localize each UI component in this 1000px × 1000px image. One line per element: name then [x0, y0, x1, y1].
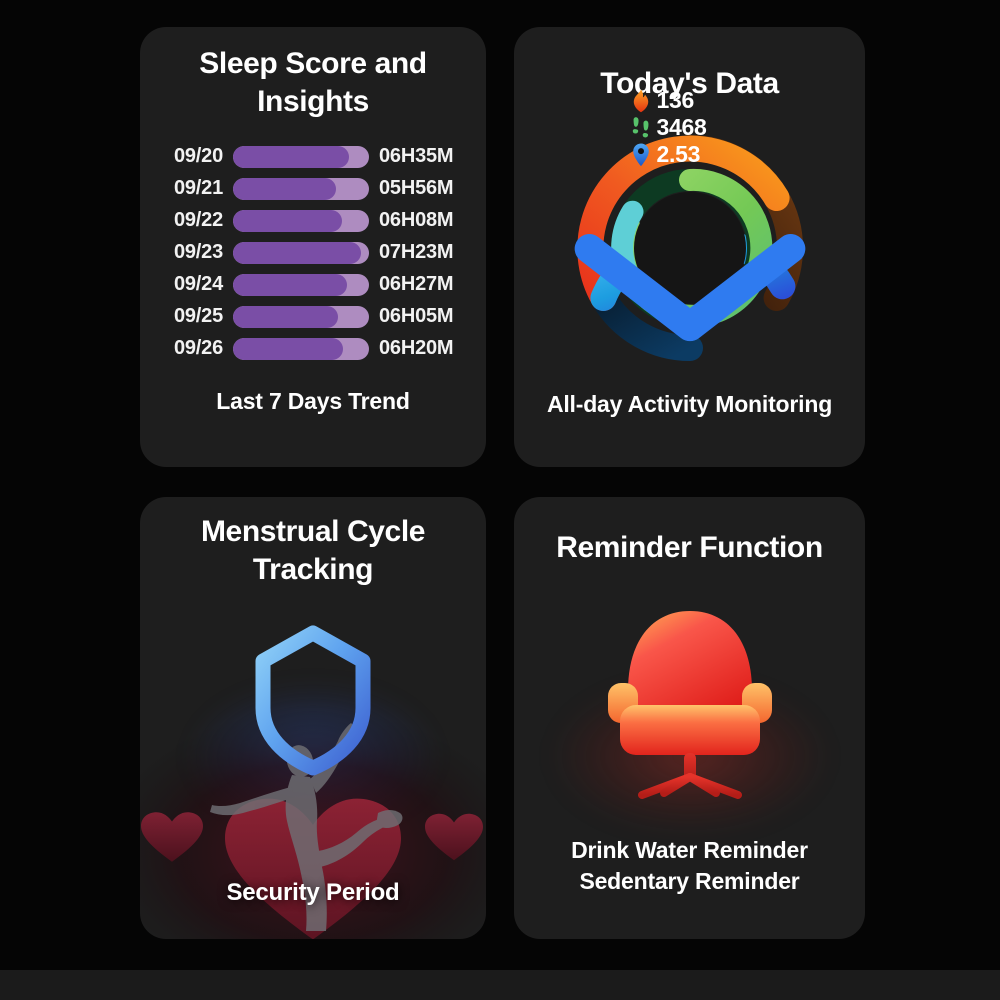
chair-backrest — [628, 611, 752, 707]
chair-seat — [620, 705, 760, 755]
sleep-row-bar-fill — [233, 210, 342, 232]
metric-steps-value: 3468 — [657, 115, 707, 141]
sleep-row-bar-track — [233, 274, 369, 296]
metric-calories-value: 136 — [657, 88, 694, 114]
sleep-row-duration: 06H08M — [379, 209, 471, 232]
sleep-row: 09/25 06H05M — [148, 306, 478, 328]
card-menstrual-cycle[interactable]: Menstrual Cycle Tracking — [140, 497, 486, 939]
sleep-row-bar-fill — [233, 306, 338, 328]
office-chair-icon — [590, 585, 790, 800]
sleep-row-bar-track — [233, 306, 369, 328]
metric-distance: 2.53 — [626, 142, 754, 168]
sleep-row-date: 09/23 — [155, 241, 223, 264]
page-root: Sleep Score and Insights 09/20 06H35M 09… — [0, 0, 1000, 1000]
sleep-row-bar-fill — [233, 338, 343, 360]
card-menstrual-title: Menstrual Cycle Tracking — [140, 513, 486, 590]
sleep-row-bar-fill — [233, 146, 349, 168]
card-sleep-title: Sleep Score and Insights — [140, 45, 486, 122]
sleep-row-bar-track — [233, 338, 369, 360]
sleep-row-bar-track — [233, 146, 369, 168]
chevron-down-icon[interactable] — [571, 171, 809, 409]
security-period-caption: Security Period — [140, 879, 486, 907]
bottom-strip — [0, 970, 1000, 1000]
activity-rings[interactable]: 136 3468 — [571, 129, 809, 367]
sleep-row-date: 09/21 — [155, 177, 223, 200]
sleep-row-bar-track — [233, 242, 369, 264]
card-sleep-score[interactable]: Sleep Score and Insights 09/20 06H35M 09… — [140, 27, 486, 467]
sleep-row-duration: 07H23M — [379, 241, 471, 264]
activity-metrics: 136 3468 — [626, 88, 754, 408]
card-reminder-function[interactable]: Reminder Function — [514, 497, 865, 939]
sleep-row-date: 09/25 — [155, 305, 223, 328]
sleep-row: 09/23 07H23M — [148, 242, 478, 264]
sleep-row-bar-track — [233, 178, 369, 200]
card-reminder-title: Reminder Function — [514, 529, 865, 567]
chair-container — [514, 585, 865, 800]
sleep-trend-list: 09/20 06H35M 09/21 05H56M 09/22 06H08M — [140, 146, 486, 360]
sleep-row-date: 09/22 — [155, 209, 223, 232]
sleep-row: 09/24 06H27M — [148, 274, 478, 296]
sleep-row: 09/20 06H35M — [148, 146, 478, 168]
sleep-row-duration: 06H35M — [379, 145, 471, 168]
reminder-caption-line1: Drink Water Reminder — [514, 835, 865, 866]
sleep-row: 09/21 05H56M — [148, 178, 478, 200]
sleep-row-bar-fill — [233, 274, 347, 296]
sleep-trend-caption: Last 7 Days Trend — [140, 386, 486, 417]
reminder-captions: Drink Water Reminder Sedentary Reminder — [514, 835, 865, 897]
card-todays-data[interactable]: Today's Data — [514, 27, 865, 467]
metric-distance-value: 2.53 — [657, 142, 701, 168]
location-pin-icon — [632, 144, 650, 166]
sleep-row-date: 09/20 — [155, 145, 223, 168]
sleep-row-bar-track — [233, 210, 369, 232]
sleep-row-duration: 06H05M — [379, 305, 471, 328]
sleep-row-date: 09/26 — [155, 337, 223, 360]
chair-base-legs — [642, 777, 738, 797]
reminder-caption-line2: Sedentary Reminder — [514, 866, 865, 897]
sleep-row: 09/22 06H08M — [148, 210, 478, 232]
sleep-row-bar-fill — [233, 242, 361, 264]
sleep-row-duration: 06H27M — [379, 273, 471, 296]
sleep-row-date: 09/24 — [155, 273, 223, 296]
sleep-row: 09/26 06H20M — [148, 338, 478, 360]
sleep-row-duration: 05H56M — [379, 177, 471, 200]
sleep-row-duration: 06H20M — [379, 337, 471, 360]
shield-icon — [251, 624, 375, 776]
sleep-row-bar-fill — [233, 178, 336, 200]
